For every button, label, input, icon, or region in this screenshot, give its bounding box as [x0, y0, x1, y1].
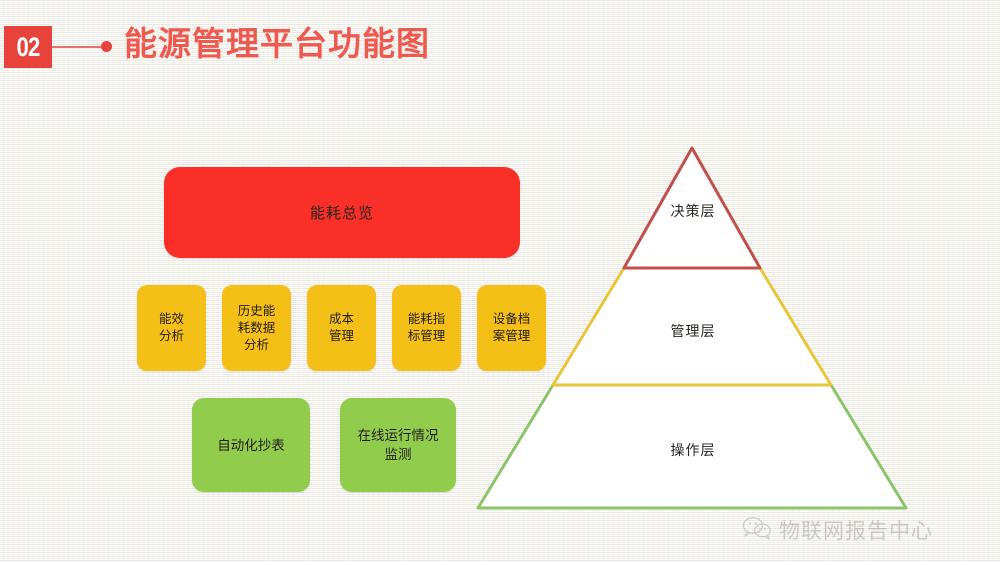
page-title: 能源管理平台功能图 [124, 22, 430, 66]
header-connector-dot [101, 41, 112, 52]
function-box-energy-index-label: 能耗指 标管理 [408, 311, 446, 345]
pyramid-diagram: 决策层 管理层 操作层 [468, 138, 916, 520]
pyramid-label-decision: 决策层 [671, 201, 716, 221]
pyramid-label-operation: 操作层 [671, 440, 716, 460]
watermark: 物联网报告中心 [742, 515, 933, 545]
function-box-auto-meter-reading[interactable]: 自动化抄表 [192, 398, 310, 492]
section-number-label: 02 [16, 32, 39, 63]
function-box-energy-index[interactable]: 能耗指 标管理 [392, 285, 461, 371]
function-box-cost-management[interactable]: 成本 管理 [307, 285, 376, 371]
watermark-text: 物联网报告中心 [779, 515, 933, 545]
function-box-history-data-label: 历史能 耗数据 分析 [238, 303, 276, 354]
function-box-overview-label: 能耗总览 [310, 202, 374, 223]
function-box-energy-efficiency[interactable]: 能效 分析 [137, 285, 206, 371]
function-box-online-monitoring-label: 在线运行情况 监测 [358, 426, 439, 464]
wechat-icon [742, 516, 772, 545]
function-box-auto-meter-reading-label: 自动化抄表 [217, 436, 285, 455]
function-box-energy-efficiency-label: 能效 分析 [159, 311, 184, 345]
function-box-overview[interactable]: 能耗总览 [164, 167, 520, 258]
function-box-online-monitoring[interactable]: 在线运行情况 监测 [340, 398, 456, 492]
function-box-cost-management-label: 成本 管理 [329, 311, 354, 345]
header-connector-line [52, 46, 105, 48]
slide-canvas: 02 能源管理平台功能图 能耗总览 能效 分析 历史能 耗数据 分析 成本 管理… [0, 0, 1000, 562]
pyramid-label-management: 管理层 [671, 321, 716, 341]
function-box-history-data[interactable]: 历史能 耗数据 分析 [222, 285, 291, 371]
section-number-badge: 02 [4, 26, 52, 68]
